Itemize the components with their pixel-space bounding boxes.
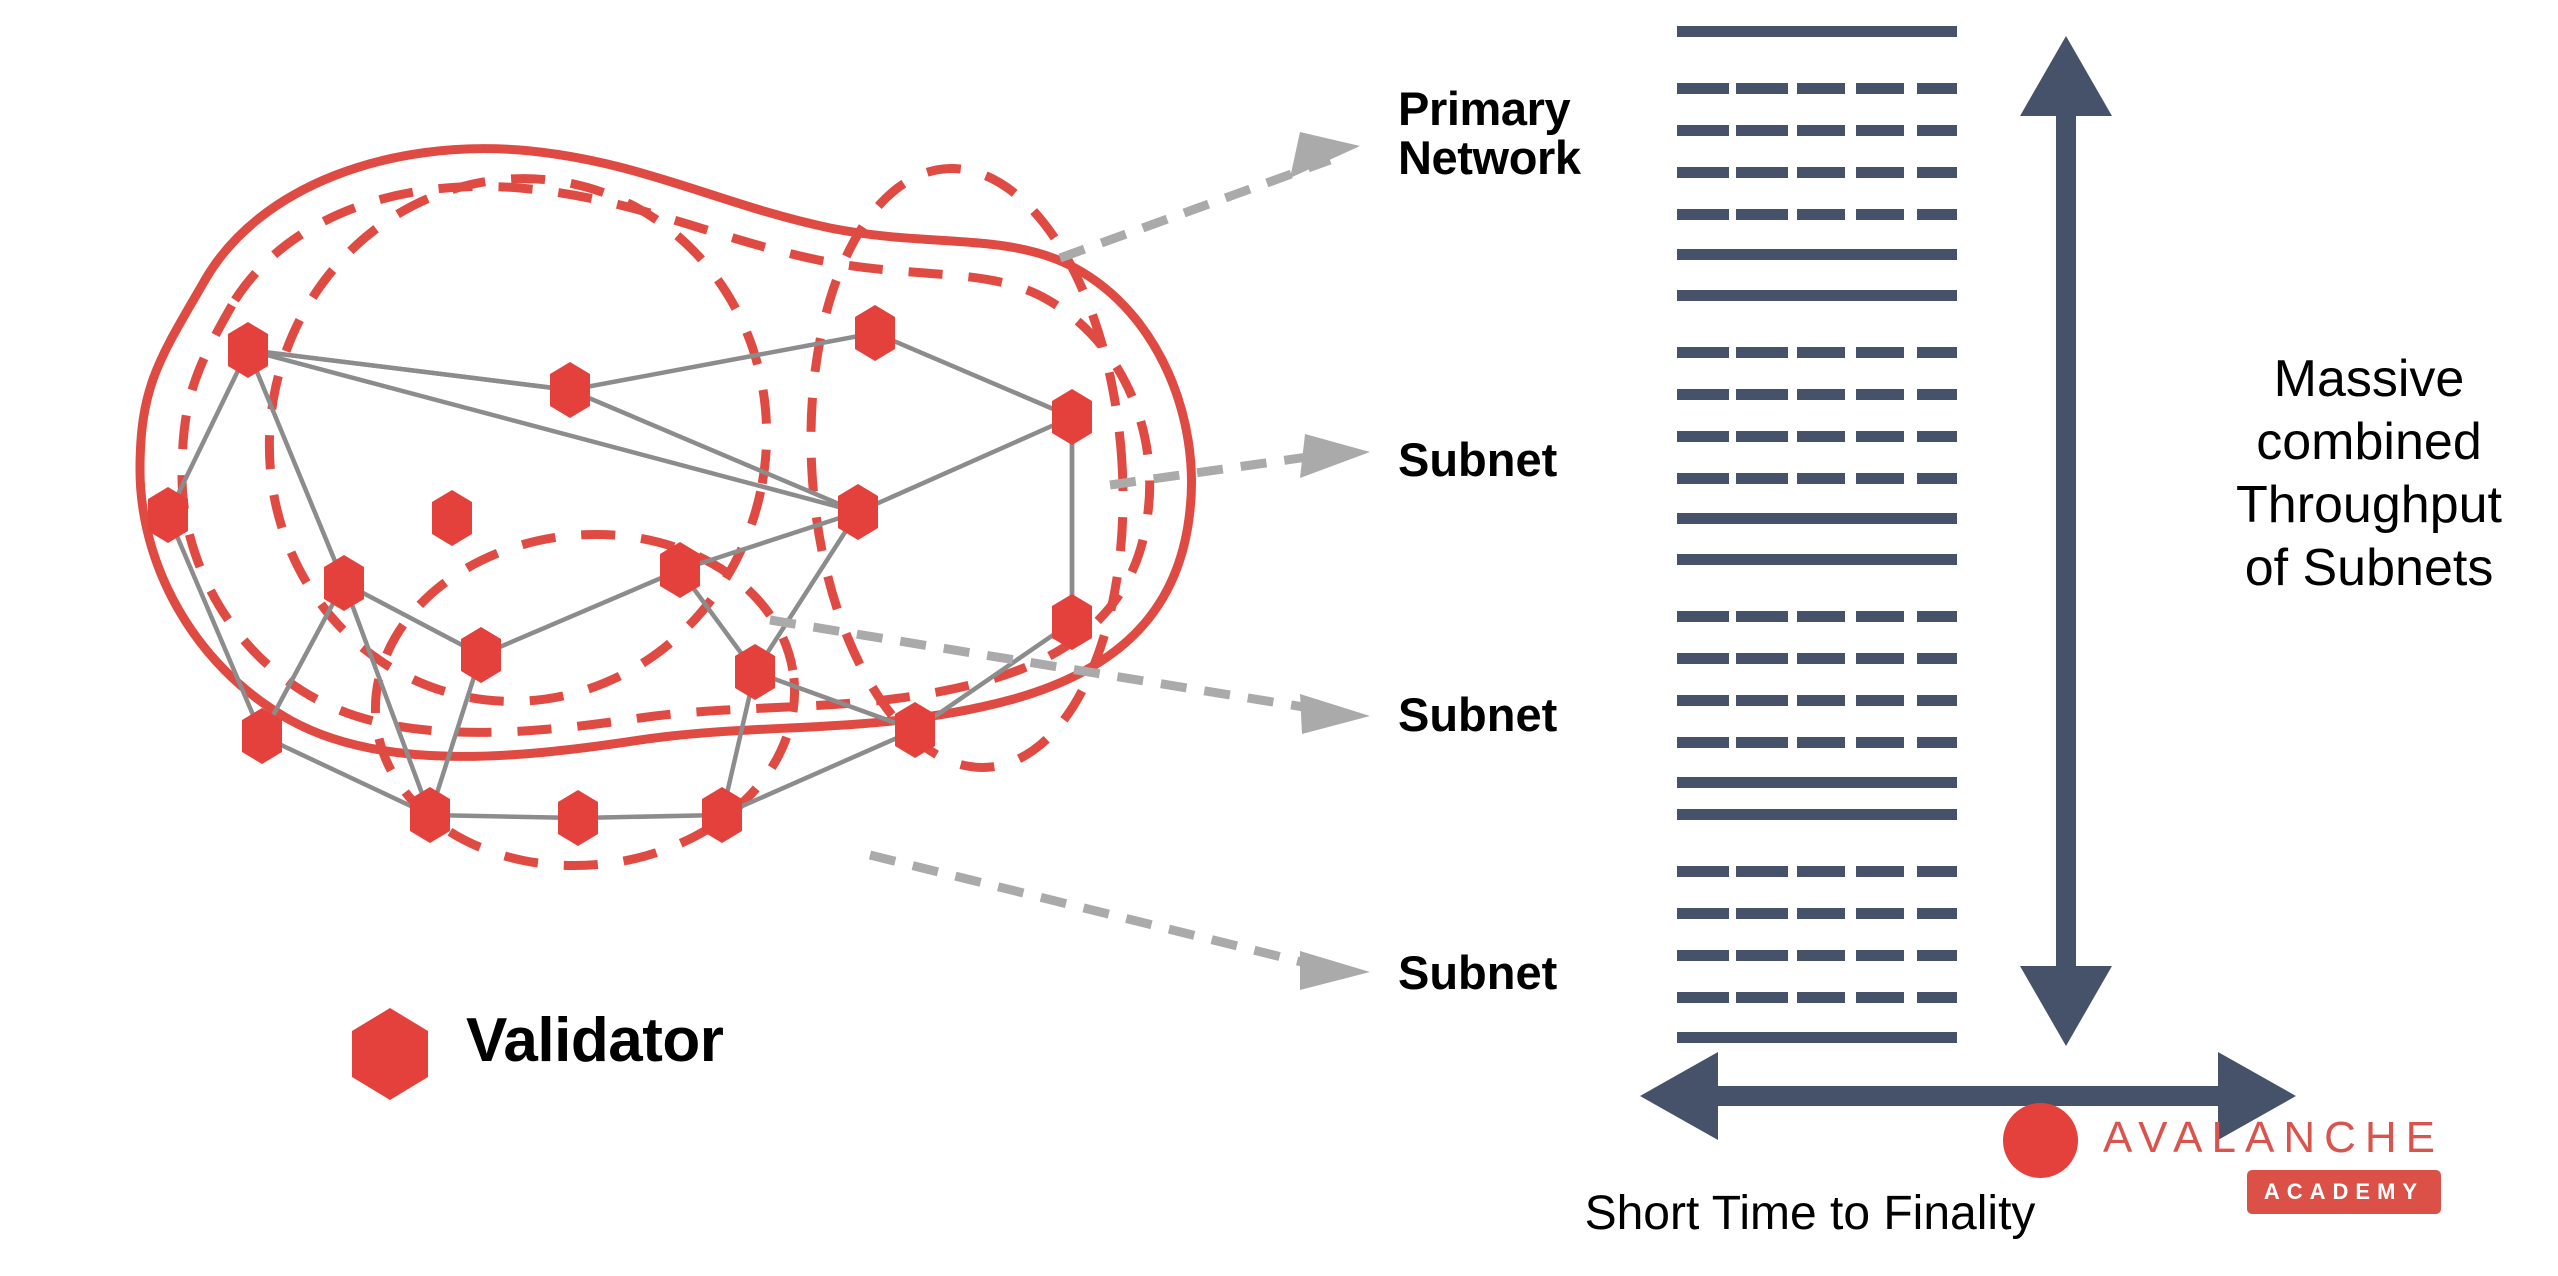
hexagon-icon — [352, 1008, 428, 1100]
validator-node — [410, 787, 450, 843]
block-dash — [1856, 695, 1904, 706]
validator-nodes — [148, 305, 1092, 846]
validator-node — [432, 490, 472, 546]
block-dash — [1856, 653, 1904, 664]
block-dash — [1917, 611, 1957, 622]
block-dash — [1736, 908, 1788, 919]
avalanche-logo-circle — [2003, 1103, 2078, 1178]
block-dash — [1736, 653, 1788, 664]
block-dash — [1677, 908, 1729, 919]
block-dash — [1797, 992, 1845, 1003]
callout-arrow-primary-network — [1060, 160, 1330, 258]
academy-badge-text: ACADEMY — [2247, 1170, 2441, 1214]
block-dash — [1856, 431, 1904, 442]
block-dash — [1917, 389, 1957, 400]
block-dash — [1917, 653, 1957, 664]
block-rule-bottom — [1677, 513, 1957, 524]
block-dash — [1736, 347, 1788, 358]
block-dash — [1736, 950, 1788, 961]
block-dash-row — [1677, 431, 1957, 442]
block-dash — [1736, 209, 1788, 220]
block-dash — [1917, 209, 1957, 220]
block-dash — [1856, 473, 1904, 484]
block-dash-row — [1677, 167, 1957, 178]
validator-node — [461, 627, 501, 683]
block-dash-row — [1677, 992, 1957, 1003]
block-dash — [1736, 125, 1788, 136]
block-dash — [1797, 167, 1845, 178]
block-dash — [1736, 389, 1788, 400]
block-dash — [1917, 950, 1957, 961]
validator-node — [702, 787, 742, 843]
block-dash — [1856, 950, 1904, 961]
block-dash — [1797, 431, 1845, 442]
validator-node — [1052, 389, 1092, 445]
block-dash — [1917, 167, 1957, 178]
block-dash — [1677, 83, 1729, 94]
block-dash-row — [1677, 908, 1957, 919]
block-dash — [1797, 83, 1845, 94]
block-dash — [1677, 695, 1729, 706]
academy-badge: ACADEMY — [2247, 1170, 2441, 1214]
validator-node — [895, 702, 935, 758]
block-dash — [1736, 866, 1788, 877]
block-dash-row — [1677, 866, 1957, 877]
block-dash — [1797, 347, 1845, 358]
avalanche-wordmark: AVALANCHE — [2103, 1113, 2444, 1163]
block-dash-row — [1677, 83, 1957, 94]
block-dash — [1677, 209, 1729, 220]
block-dash — [1856, 209, 1904, 220]
callout-arrow-subnet-1 — [1110, 455, 1322, 485]
validator-node — [324, 555, 364, 611]
block-rule-top — [1677, 554, 1957, 565]
block-dash — [1917, 866, 1957, 877]
block-dash — [1917, 473, 1957, 484]
block-dash — [1856, 125, 1904, 136]
block-rule-top — [1677, 290, 1957, 301]
block-dash — [1856, 83, 1904, 94]
block-dash-row — [1677, 653, 1957, 664]
callout-label-subnet-3: Subnet — [1398, 948, 1557, 997]
block-dash-row — [1677, 611, 1957, 622]
block-dash-row — [1677, 473, 1957, 484]
block-dash — [1677, 653, 1729, 664]
validator-node — [228, 322, 268, 378]
callout-arrow-subnet-2 — [770, 620, 1322, 710]
throughput-block — [1677, 809, 1957, 1043]
block-rule-top — [1677, 809, 1957, 820]
block-dash — [1677, 431, 1729, 442]
block-dash — [1677, 950, 1729, 961]
block-dash — [1856, 908, 1904, 919]
block-dash — [1736, 431, 1788, 442]
block-dash-row — [1677, 347, 1957, 358]
callout-arrows — [770, 160, 1330, 967]
block-dash-row — [1677, 737, 1957, 748]
block-dash — [1677, 866, 1729, 877]
callout-label-primary-network: Primary Network — [1398, 84, 1581, 183]
block-dash — [1677, 167, 1729, 178]
block-dash — [1856, 866, 1904, 877]
block-dash — [1856, 611, 1904, 622]
validator-node — [242, 708, 282, 764]
network-graph — [0, 0, 2558, 1276]
validator-node — [558, 790, 598, 846]
callout-label-subnet-1: Subnet — [1398, 435, 1557, 484]
block-dash — [1677, 737, 1729, 748]
block-dash — [1677, 611, 1729, 622]
block-dash — [1917, 347, 1957, 358]
block-dash — [1856, 167, 1904, 178]
validator-node — [735, 644, 775, 700]
block-dash — [1736, 611, 1788, 622]
block-dash — [1797, 908, 1845, 919]
block-dash-row — [1677, 209, 1957, 220]
throughput-block — [1677, 290, 1957, 524]
block-dash — [1736, 83, 1788, 94]
block-dash — [1677, 125, 1729, 136]
block-dash — [1797, 389, 1845, 400]
block-dash — [1797, 209, 1845, 220]
validator-node — [660, 542, 700, 598]
block-dash — [1797, 125, 1845, 136]
block-dash-row — [1677, 125, 1957, 136]
block-dash — [1917, 737, 1957, 748]
avalanche-academy-logo: AVALANCHE ACADEMY — [2003, 1103, 2548, 1233]
block-dash — [1797, 737, 1845, 748]
callout-label-subnet-2: Subnet — [1398, 690, 1557, 739]
block-dash — [1856, 347, 1904, 358]
block-dash — [1917, 431, 1957, 442]
block-dash — [1736, 992, 1788, 1003]
block-dash — [1917, 695, 1957, 706]
block-dash — [1797, 950, 1845, 961]
throughput-block — [1677, 26, 1957, 260]
block-rule-bottom — [1677, 777, 1957, 788]
legend-label-validator: Validator — [466, 1005, 723, 1076]
throughput-block — [1677, 554, 1957, 788]
block-dash — [1856, 992, 1904, 1003]
block-dash — [1797, 695, 1845, 706]
block-dash — [1917, 83, 1957, 94]
validator-node — [1052, 594, 1092, 650]
block-dash — [1797, 653, 1845, 664]
block-dash — [1856, 737, 1904, 748]
block-dash — [1736, 695, 1788, 706]
block-dash-row — [1677, 950, 1957, 961]
block-dash — [1917, 908, 1957, 919]
vertical-throughput-arrow — [2020, 36, 2112, 1046]
block-dash — [1797, 611, 1845, 622]
validator-node — [550, 362, 590, 418]
diagram-canvas: Primary Network Subnet Subnet Subnet Val… — [0, 0, 2558, 1276]
block-rule-bottom — [1677, 249, 1957, 260]
block-dash — [1677, 992, 1729, 1003]
callout-arrowheads — [1290, 132, 1370, 990]
block-dash — [1677, 347, 1729, 358]
block-rule-bottom — [1677, 1032, 1957, 1043]
block-dash — [1677, 389, 1729, 400]
callout-arrow-subnet-3 — [870, 855, 1322, 967]
block-dash — [1917, 992, 1957, 1003]
subnet-boundary-middle — [221, 132, 815, 748]
validator-node — [838, 484, 878, 540]
block-dash — [1736, 167, 1788, 178]
block-dash — [1856, 389, 1904, 400]
validator-node — [855, 305, 895, 361]
block-dash-row — [1677, 695, 1957, 706]
throughput-bar-column — [1677, 26, 1957, 1043]
block-dash-row — [1677, 389, 1957, 400]
vertical-axis-label: Massive combined Throughput of Subnets — [2180, 348, 2558, 600]
block-dash — [1736, 473, 1788, 484]
block-dash — [1677, 473, 1729, 484]
block-dash — [1797, 866, 1845, 877]
block-dash — [1917, 125, 1957, 136]
block-rule-top — [1677, 26, 1957, 37]
block-dash — [1797, 473, 1845, 484]
block-dash — [1736, 737, 1788, 748]
